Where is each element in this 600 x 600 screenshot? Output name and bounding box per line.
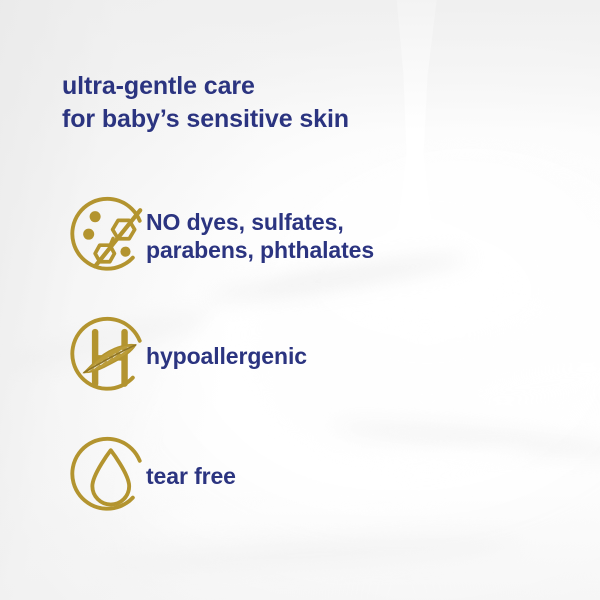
tear-free-droplet-icon	[62, 430, 154, 522]
feather-shape	[84, 345, 136, 373]
no-dyes-molecules-icon	[62, 190, 154, 282]
hypoallergenic-feather-h-icon	[62, 310, 154, 402]
poster-content: ultra-gentle care for baby’s sensitive s…	[0, 0, 600, 600]
claim-label: tear free	[146, 462, 236, 490]
claim-item-no-dyes: NO dyes, sulfates, parabens, phthalates	[62, 176, 532, 296]
claims-list: NO dyes, sulfates, parabens, phthalates	[62, 176, 532, 536]
claim-item-hypoallergenic: hypoallergenic	[62, 296, 532, 416]
claim-label: hypoallergenic	[146, 342, 307, 370]
headline: ultra-gentle care for baby’s sensitive s…	[62, 70, 349, 136]
product-claims-poster: ultra-gentle care for baby’s sensitive s…	[0, 0, 600, 600]
claim-item-tear-free: tear free	[62, 416, 532, 536]
claim-label: NO dyes, sulfates, parabens, phthalates	[146, 208, 374, 264]
